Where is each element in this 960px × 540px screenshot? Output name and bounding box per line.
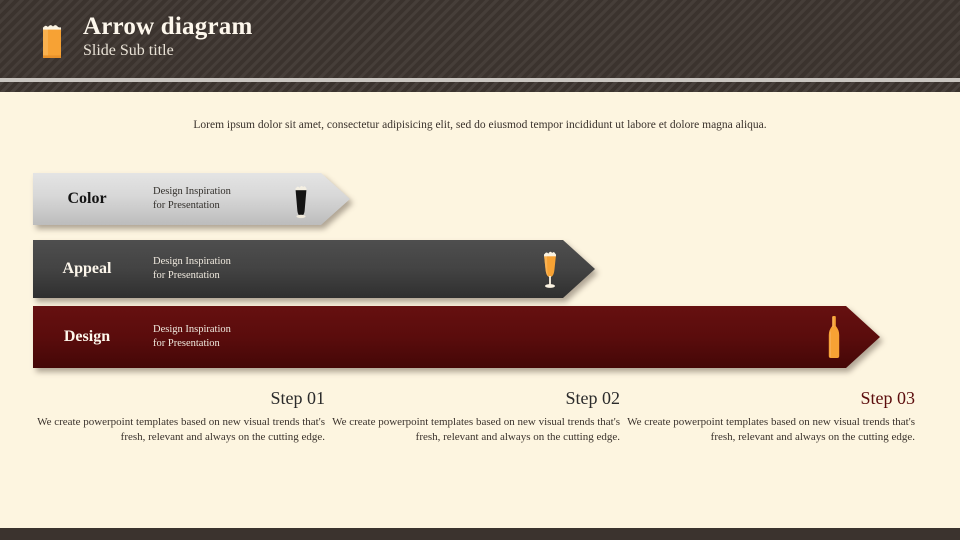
page-title: Arrow diagram xyxy=(83,14,252,40)
arrow-label-appeal: Appeal xyxy=(45,260,129,278)
step-column-3: Step 03 We create powerpoint templates b… xyxy=(620,388,915,446)
slide-canvas: Arrow diagram Slide Sub title Lorem ipsu… xyxy=(0,0,960,540)
step-body-2: We create powerpoint templates based on … xyxy=(325,415,620,446)
arrow-bar-color[interactable]: Color Design Inspiration for Presentatio… xyxy=(33,173,350,225)
arrow-content-color: Color Design Inspiration for Presentatio… xyxy=(33,173,231,225)
arrow-content-appeal: Appeal Design Inspiration for Presentati… xyxy=(33,240,231,298)
stout-glass-icon xyxy=(291,181,311,224)
step-column-1: Step 01 We create powerpoint templates b… xyxy=(30,388,325,446)
step-title-1: Step 01 xyxy=(30,388,325,410)
header-accent-strip xyxy=(0,82,960,92)
step-title-2: Step 02 xyxy=(325,388,620,410)
arrow-description-design: Design Inspiration for Presentation xyxy=(153,323,231,352)
arrow-description-line2: for Presentation xyxy=(153,337,231,351)
pilsner-glass-icon xyxy=(539,248,561,295)
header-title-block: Arrow diagram Slide Sub title xyxy=(83,14,252,61)
page-subtitle: Slide Sub title xyxy=(83,42,252,60)
arrow-description-line2: for Presentation xyxy=(153,269,231,283)
arrow-bar-design[interactable]: Design Design Inspiration for Presentati… xyxy=(33,306,880,368)
beer-glass-icon xyxy=(41,21,63,59)
arrow-label-design: Design xyxy=(45,328,129,346)
step-title-3: Step 03 xyxy=(620,388,915,410)
beer-bottle-icon xyxy=(826,315,842,364)
arrow-content-design: Design Design Inspiration for Presentati… xyxy=(33,306,231,368)
arrow-description-appeal: Design Inspiration for Presentation xyxy=(153,255,231,284)
arrow-description-line1: Design Inspiration xyxy=(153,255,231,269)
arrow-description-color: Design Inspiration for Presentation xyxy=(153,185,231,214)
slide-header: Arrow diagram Slide Sub title xyxy=(0,0,960,78)
step-column-2: Step 02 We create powerpoint templates b… xyxy=(325,388,620,446)
arrow-description-line2: for Presentation xyxy=(153,199,231,213)
steps-row: Step 01 We create powerpoint templates b… xyxy=(0,388,960,446)
step-body-3: We create powerpoint templates based on … xyxy=(620,415,915,446)
lead-paragraph: Lorem ipsum dolor sit amet, consectetur … xyxy=(0,119,960,131)
arrow-label-color: Color xyxy=(45,190,129,208)
footer-bar xyxy=(0,528,960,540)
arrow-description-line1: Design Inspiration xyxy=(153,323,231,337)
step-body-1: We create powerpoint templates based on … xyxy=(30,415,325,446)
arrow-bar-appeal[interactable]: Appeal Design Inspiration for Presentati… xyxy=(33,240,595,298)
arrow-description-line1: Design Inspiration xyxy=(153,185,231,199)
